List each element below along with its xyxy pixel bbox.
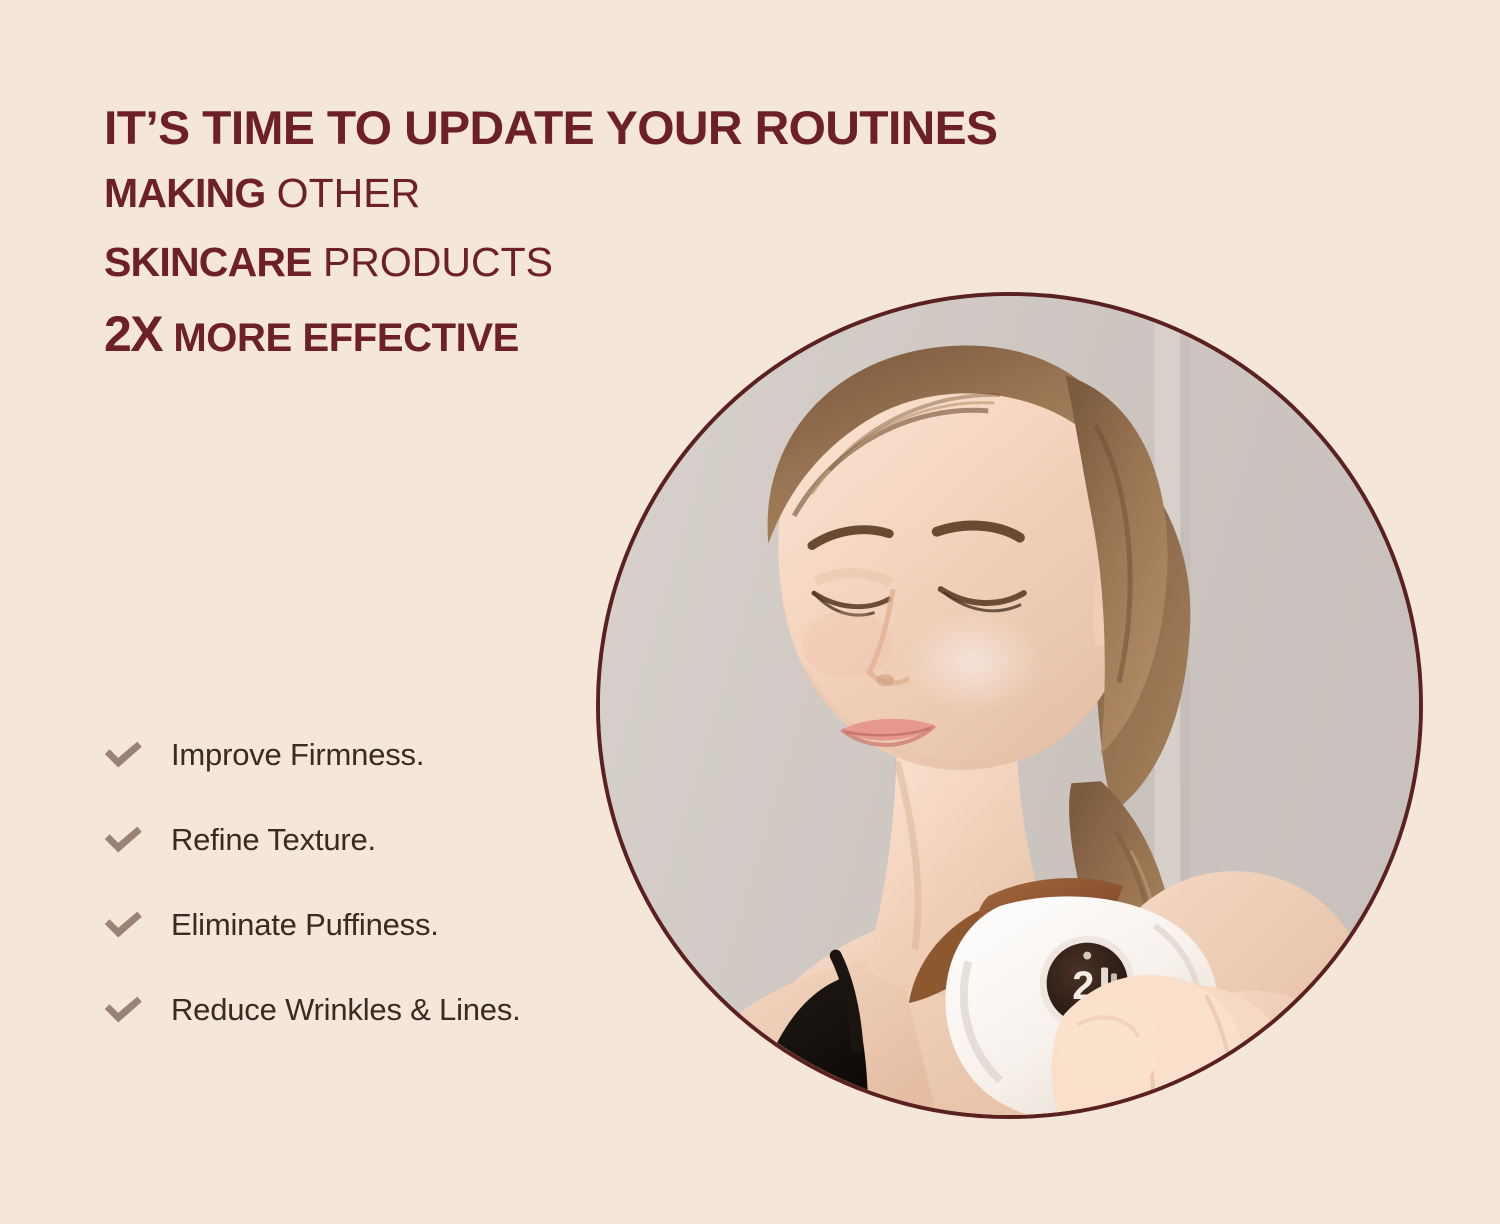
check-icon xyxy=(100,817,146,863)
subheadline-2-light: PRODUCTS xyxy=(323,239,553,285)
list-item: Refine Texture. xyxy=(100,797,660,882)
subheadline-1-bold: MAKING xyxy=(104,170,265,216)
list-item: Improve Firmness. xyxy=(100,712,660,797)
subheadline-1-light: OTHER xyxy=(277,170,421,216)
check-icon xyxy=(100,732,146,778)
subheadline-line-2: SKINCARE PRODUCTS xyxy=(104,242,824,283)
check-icon xyxy=(100,902,146,948)
photo-illustration: 2 xyxy=(600,296,1419,1115)
benefit-label: Eliminate Puffiness. xyxy=(171,907,439,943)
page-title: IT’S TIME TO UPDATE YOUR ROUTINES xyxy=(104,104,838,151)
list-item: Reduce Wrinkles & Lines. xyxy=(100,967,660,1052)
benefit-label: Refine Texture. xyxy=(171,822,376,858)
promo-banner: IT’S TIME TO UPDATE YOUR ROUTINES MAKING… xyxy=(0,0,1500,1224)
benefits-list: Improve Firmness. Refine Texture. Elimin… xyxy=(100,712,660,1052)
product-lifestyle-photo: 2 xyxy=(596,292,1423,1119)
emphasis-multiplier: 2X xyxy=(104,306,162,362)
benefit-label: Improve Firmness. xyxy=(171,737,424,773)
check-icon xyxy=(100,987,146,1033)
subheadline-2-bold: SKINCARE xyxy=(104,239,312,285)
list-item: Eliminate Puffiness. xyxy=(100,882,660,967)
benefit-label: Reduce Wrinkles & Lines. xyxy=(171,992,521,1028)
emphasis-text: MORE EFFECTIVE xyxy=(173,316,519,360)
photo-inner: 2 xyxy=(600,296,1419,1115)
subheadline-line-1: MAKING OTHER xyxy=(104,173,824,214)
